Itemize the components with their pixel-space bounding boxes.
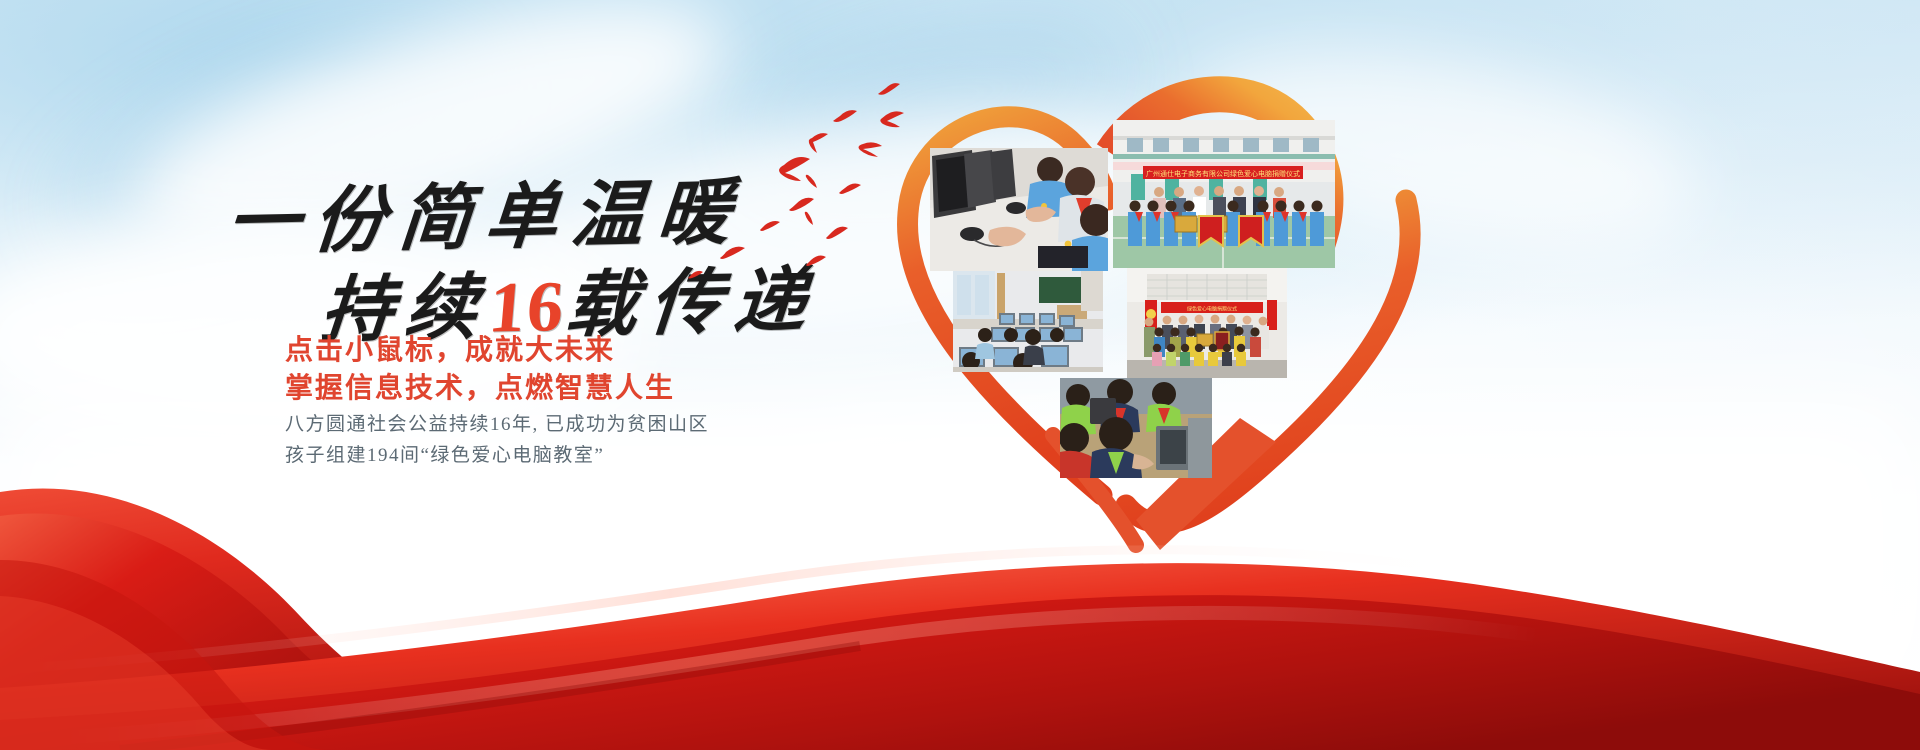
photo-students-at-computers-row xyxy=(930,148,1108,271)
svg-text:绿色爱心电脑捐赠仪式: 绿色爱心电脑捐赠仪式 xyxy=(1187,306,1237,313)
red-ribbon-wave xyxy=(0,420,1920,750)
svg-text:广州通仕电子商务有限公司绿色爱心电脑捐赠仪式: 广州通仕电子商务有限公司绿色爱心电脑捐赠仪式 xyxy=(1146,169,1300,178)
photo-donation-ceremony-group-yellow: 绿色爱心电脑捐赠仪式 xyxy=(1127,268,1287,378)
photo-donation-ceremony-group-blue: 广州通仕电子商务有限公司绿色爱心电脑捐赠仪式 xyxy=(1113,120,1335,268)
photo-computer-classroom-wide xyxy=(953,271,1103,372)
charity-banner: 一份简单温暖 持续16载传递 点击小鼠标，成就大未来 掌握信息技术，点燃智慧人生… xyxy=(0,0,1920,750)
subtitle-line-2: 掌握信息技术，点燃智慧人生 xyxy=(285,366,675,406)
subtitle-line-1: 点击小鼠标，成就大未来 xyxy=(285,328,615,368)
